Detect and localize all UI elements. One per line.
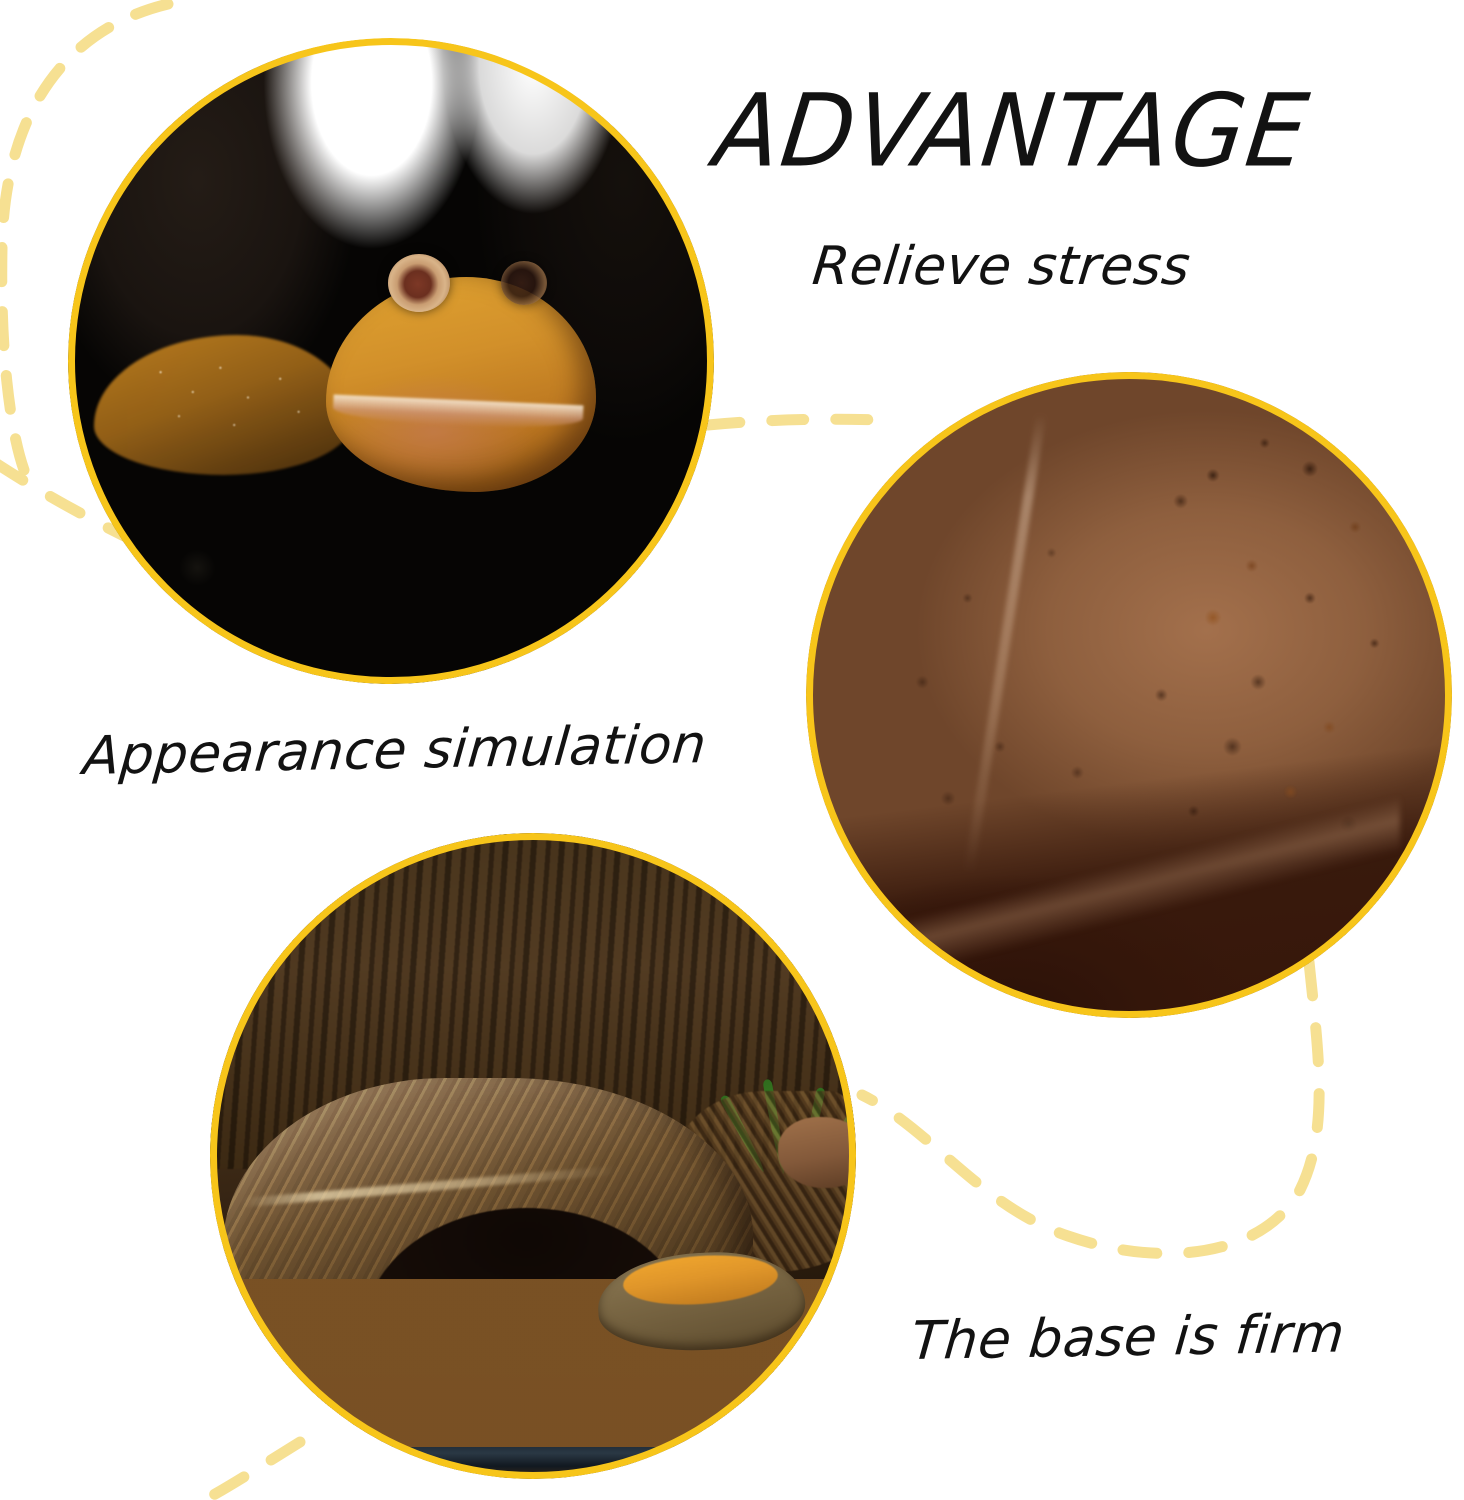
connector-terrarium-bottom-left (182, 1442, 300, 1500)
page-title: ADVANTAGE (710, 82, 1315, 183)
photo-circle-appearance-simulation[interactable] (806, 372, 1452, 1018)
frog-left-eye (388, 254, 450, 312)
photo-circle-relieve-stress[interactable] (68, 38, 714, 684)
frog-head-shape (326, 277, 596, 492)
rock-bottom-edge (858, 760, 1401, 1018)
feature-label-appearance-simulation: Appearance simulation (81, 714, 709, 787)
pacman-frog-on-black-pebbles-photo (68, 38, 714, 684)
porous-lava-rock-closeup-photo (806, 372, 1452, 1018)
terrarium-rock-cave-on-sand-photo (210, 833, 856, 1479)
feature-label-base-is-firm: The base is firm (909, 1303, 1348, 1372)
feature-label-relieve-stress: Relieve stress (810, 236, 1194, 297)
advantage-infographic: ADVANTAGE Relieve stress Appearance simu… (0, 0, 1464, 1500)
photo-circle-base-is-firm[interactable] (210, 833, 856, 1479)
frog-right-eye (501, 261, 547, 305)
